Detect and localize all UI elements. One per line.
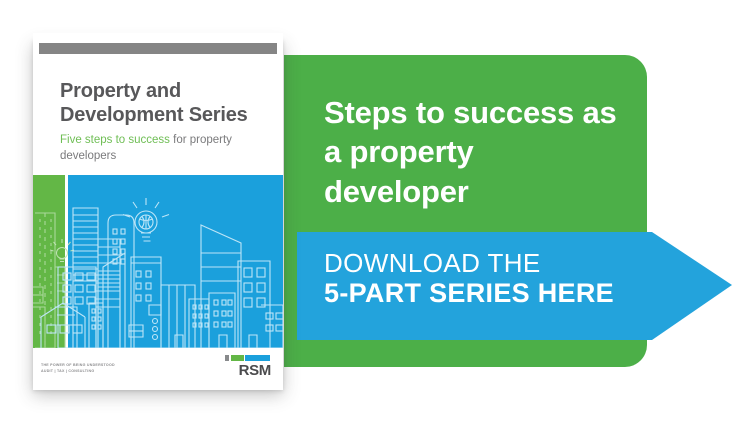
rsm-logo: RSM xyxy=(219,355,271,378)
rsm-tagline: THE POWER OF BEING UNDERSTOOD AUDIT | TA… xyxy=(41,363,115,374)
booklet-subtitle-highlight: Five steps to success xyxy=(60,134,170,146)
download-label-line1: DOWNLOAD THE xyxy=(324,249,614,278)
banner-canvas: Steps to success as a property developer… xyxy=(0,0,752,433)
rsm-tagline-line2: AUDIT | TAX | CONSULTING xyxy=(41,369,115,374)
booklet-cover[interactable]: Property and Development Series Five ste… xyxy=(33,33,283,388)
city-skyline-illustration xyxy=(33,175,283,348)
download-label-line2: 5-PART SERIES HERE xyxy=(324,278,614,309)
download-arrow-banner[interactable]: DOWNLOAD THE 5-PART SERIES HERE xyxy=(297,232,732,340)
booklet-top-bar xyxy=(39,43,277,54)
cta-heading: Steps to success as a property developer xyxy=(324,93,624,211)
booklet-subtitle: Five steps to success for property devel… xyxy=(60,133,255,164)
rsm-tagline-line1: THE POWER OF BEING UNDERSTOOD xyxy=(41,363,115,368)
download-text-block: DOWNLOAD THE 5-PART SERIES HERE xyxy=(324,249,614,310)
rsm-logo-wordmark: RSM xyxy=(219,363,271,378)
rsm-logo-bars-icon xyxy=(219,355,271,361)
booklet-title: Property and Development Series xyxy=(60,79,270,127)
